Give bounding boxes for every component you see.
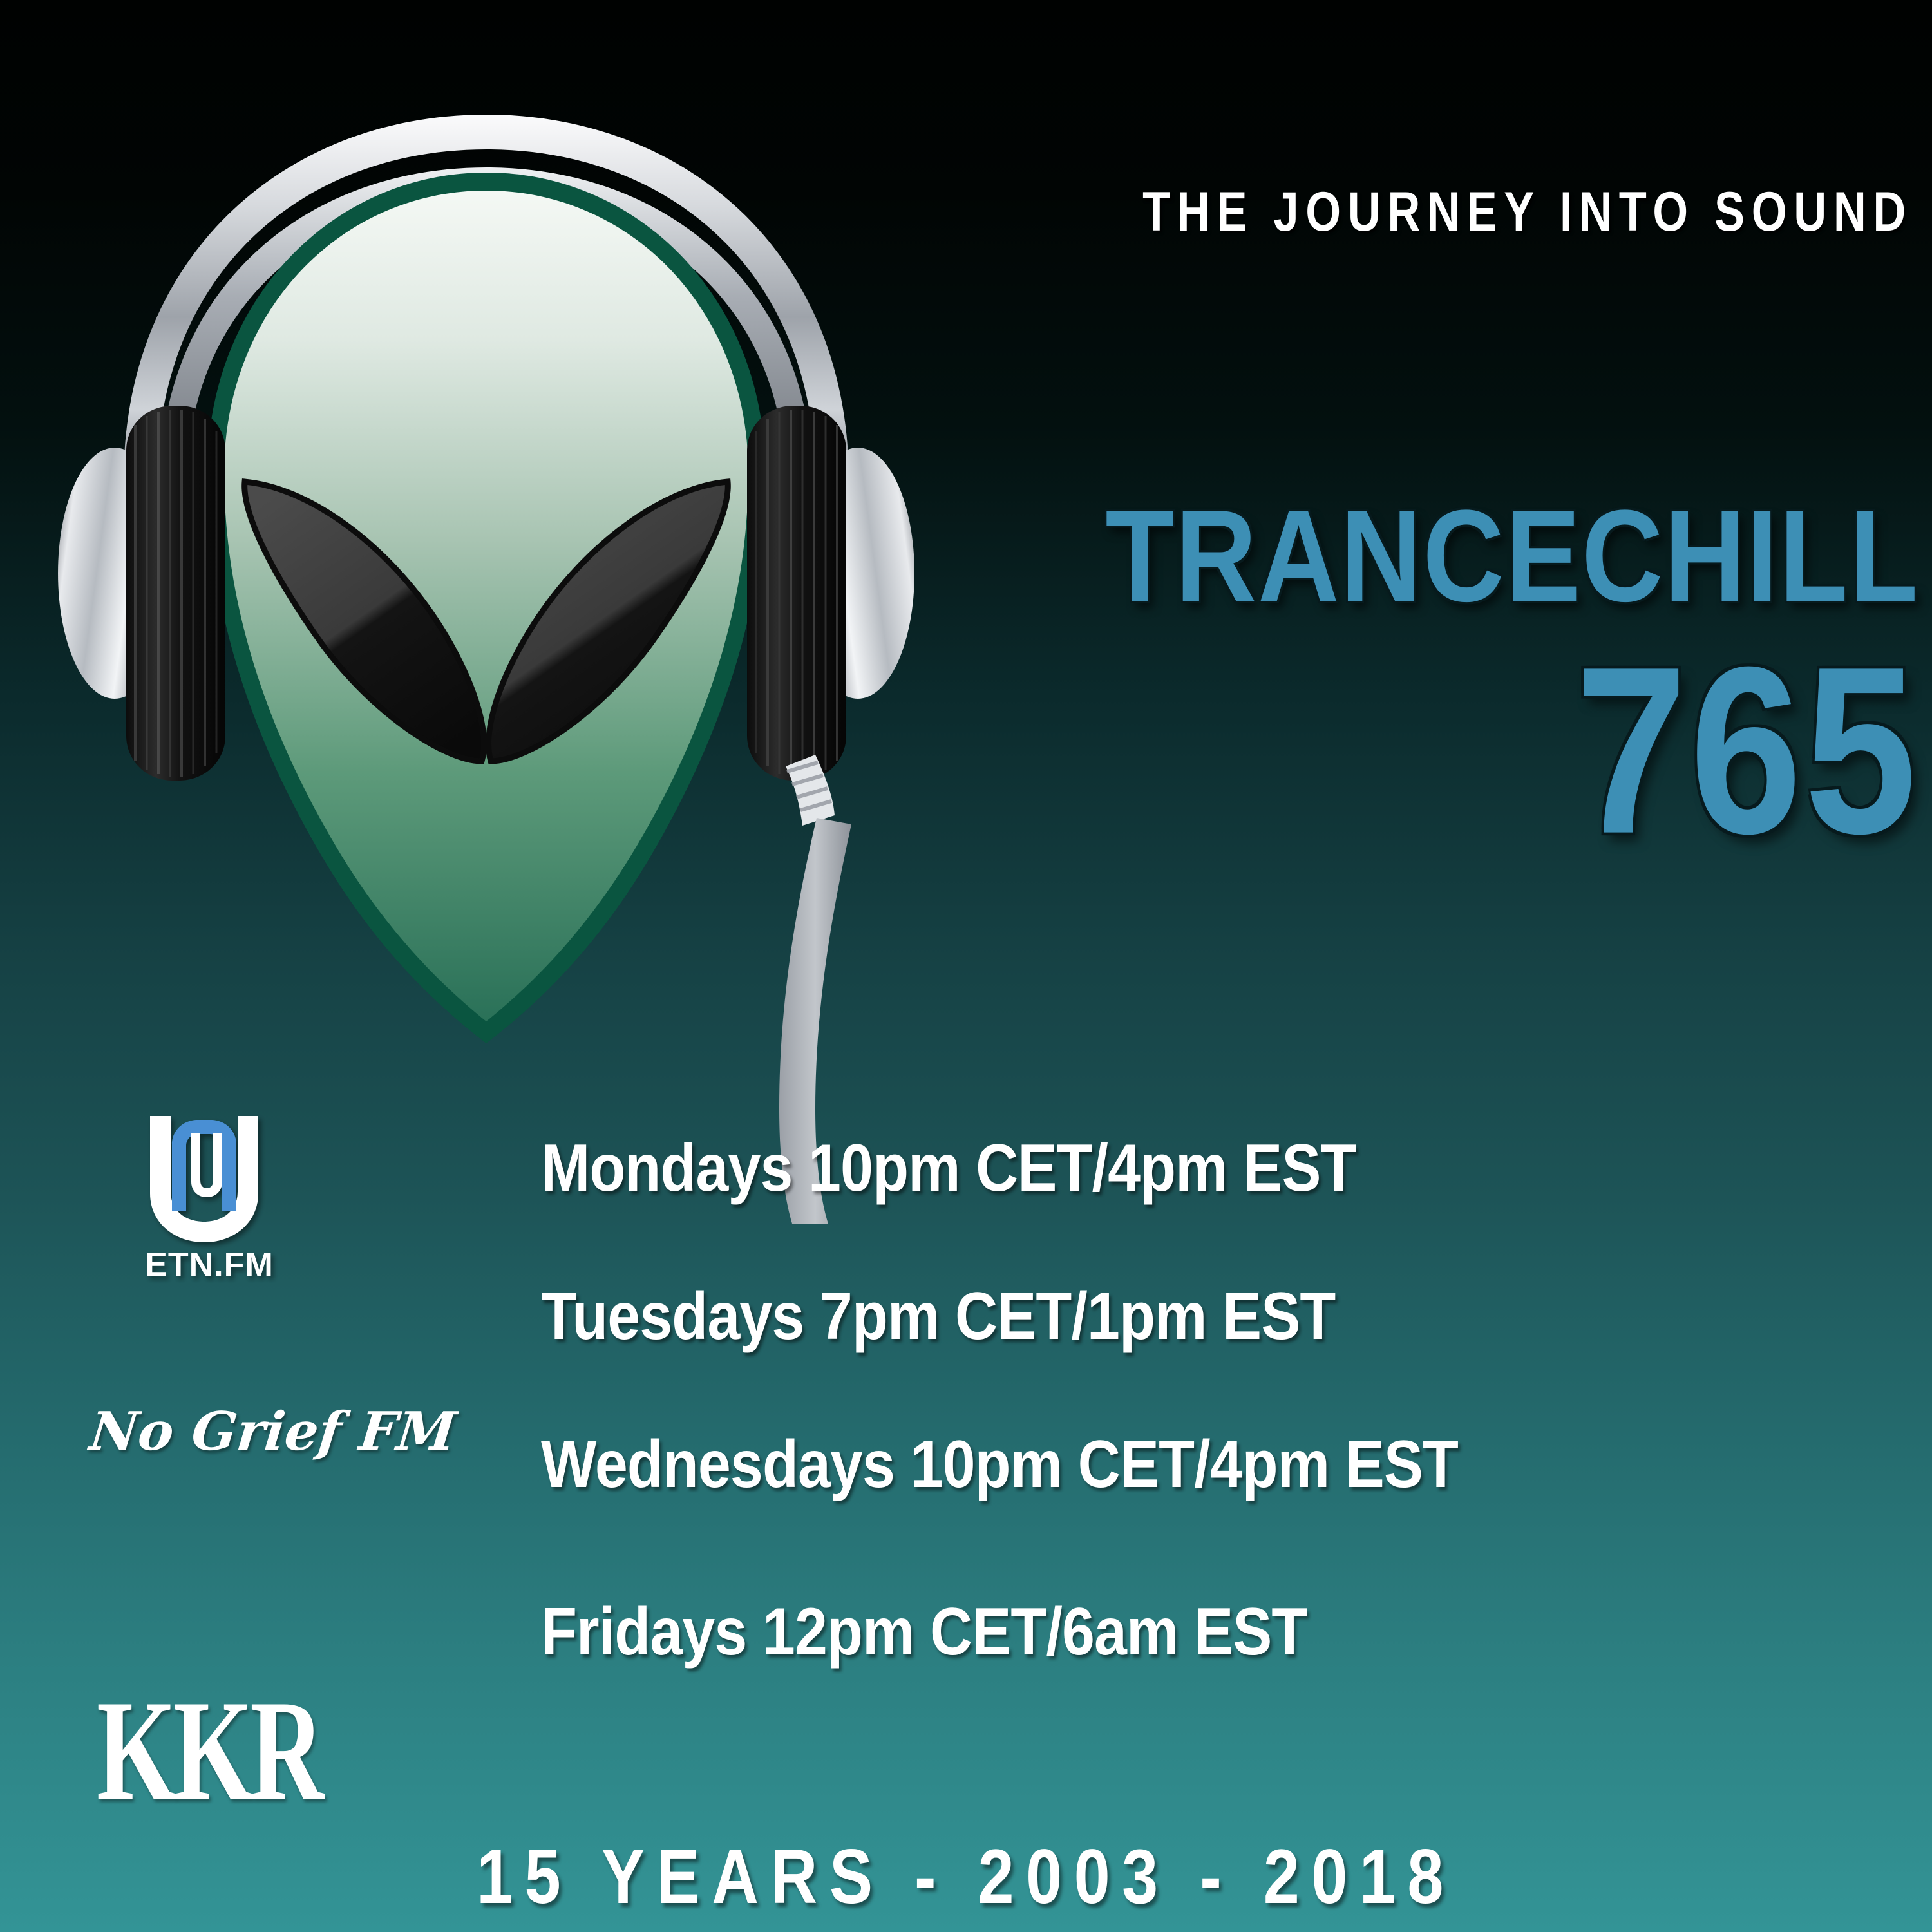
schedule-row: 2 B D radio Fridays 12pm CET/6am EST	[0, 1594, 1932, 1723]
schedule-text-tuesday: Tuesdays 7pm CET/1pm EST	[541, 1278, 1335, 1355]
anniversary-banner: 15 YEARS - 2003 - 2018	[155, 1832, 1777, 1921]
etn-fm-logo-icon: ETN.FM	[126, 1104, 293, 1291]
alien-head-artwork	[45, 64, 1050, 1224]
schedule-text-friday: Fridays 12pm CET/6am EST	[541, 1594, 1307, 1671]
headphone-right-earcup	[747, 406, 914, 781]
schedule-row: KKR Wednesdays 10pm CET/4pm EST	[0, 1426, 1932, 1555]
episode-number: 765	[1087, 613, 1919, 887]
brand-title: TRANCECHILL	[1104, 480, 1919, 630]
alien-head	[207, 173, 765, 1043]
schedule-text-monday: Mondays 10pm CET/4pm EST	[541, 1130, 1356, 1207]
poster-canvas: THE JOURNEY INTO SOUND TRANCECHILL 765	[0, 0, 1932, 1932]
schedule-row: ETN.FM Mondays 10pm CET/4pm EST	[0, 1130, 1932, 1259]
schedule-row: No Grief FM Tuesdays 7pm CET/1pm EST	[0, 1278, 1932, 1407]
tagline: THE JOURNEY INTO SOUND	[1097, 180, 1913, 244]
schedule-text-wednesday: Wednesdays 10pm CET/4pm EST	[541, 1426, 1458, 1503]
broadcast-schedule: ETN.FM Mondays 10pm CET/4pm EST No Grief…	[0, 1130, 1932, 1774]
